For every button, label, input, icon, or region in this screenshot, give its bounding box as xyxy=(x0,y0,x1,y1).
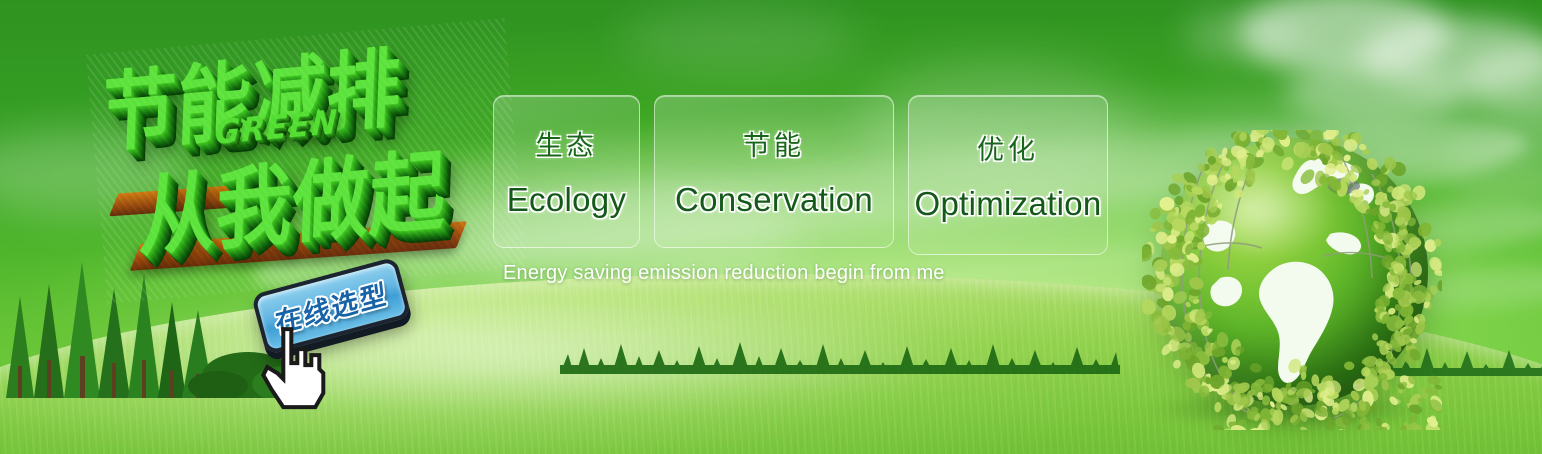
cloud-icon xyxy=(1440,140,1542,210)
globe-leaf-vines-icon xyxy=(1142,130,1442,430)
banner-tagline: Energy saving emission reduction begin f… xyxy=(503,262,945,285)
leafy-globe-icon xyxy=(1142,130,1442,430)
feature-card-optimization[interactable]: 优化 Optimization xyxy=(908,95,1108,255)
cloud-icon xyxy=(1460,50,1542,108)
feature-card-conservation[interactable]: 节能 Conservation xyxy=(654,95,894,248)
feature-card-title-cn: 生态 xyxy=(536,124,598,163)
cloud-icon xyxy=(1240,0,1450,76)
cloud-icon xyxy=(620,5,860,75)
hero-title: 节能减排 GREEN 从我做起 xyxy=(86,18,526,304)
cloud-icon xyxy=(1360,18,1542,92)
cloud-icon xyxy=(1185,10,1305,60)
feature-card-ecology[interactable]: 生态 Ecology xyxy=(493,95,640,248)
hero-title-line-bottom: 从我做起 xyxy=(137,119,448,274)
feature-cards: 生态 Ecology 节能 Conservation 优化 Optimizati… xyxy=(493,95,1108,255)
feature-card-title-cn: 优化 xyxy=(977,128,1039,167)
feature-card-title-cn: 节能 xyxy=(743,124,805,163)
feature-card-title-en: Optimization xyxy=(915,185,1102,223)
feature-card-title-en: Conservation xyxy=(675,181,873,219)
eco-hero-banner: 节能减排 GREEN 从我做起 在线选型 生态 Ecology 节能 Conse… xyxy=(0,0,1542,454)
cloud-icon xyxy=(1285,62,1465,124)
feature-card-title-en: Ecology xyxy=(507,181,627,219)
